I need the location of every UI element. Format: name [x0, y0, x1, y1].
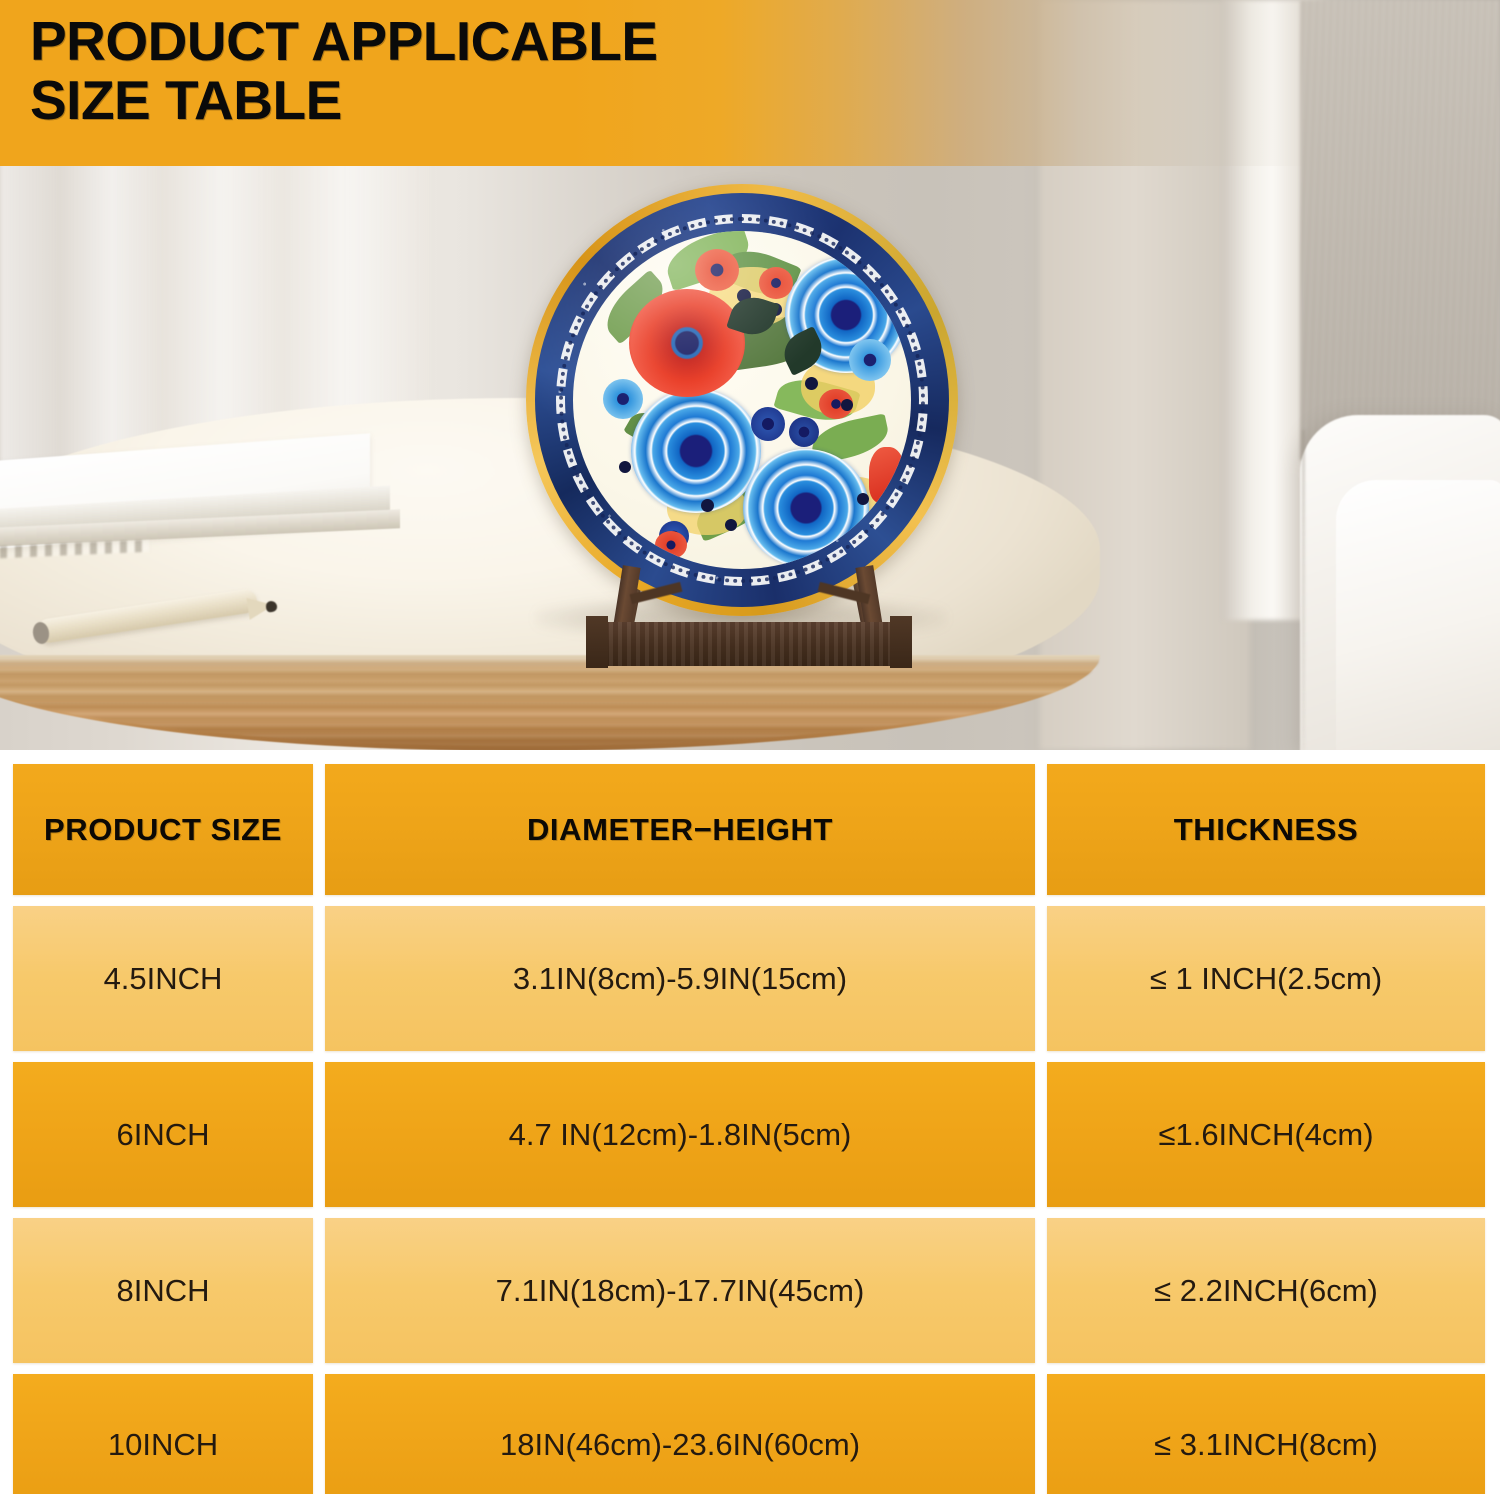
header-thickness: THICKNESS: [1047, 764, 1485, 895]
cell-product-size: 4.5INCH: [13, 906, 313, 1051]
stand-foot-right: [890, 616, 912, 668]
cell-thickness: ≤1.6INCH(4cm): [1047, 1062, 1485, 1207]
product-size-table-page: PRODUCT APPLICABLE SIZE TABLE PRODUCT SI…: [0, 0, 1500, 1494]
header-product-size: PRODUCT SIZE: [13, 764, 313, 895]
navy-dot-5: [701, 499, 714, 512]
cell-diameter-height: 3.1IN(8cm)-5.9IN(15cm): [325, 906, 1035, 1051]
cell-thickness: ≤ 2.2INCH(6cm): [1047, 1218, 1485, 1363]
cell-diameter-height: 7.1IN(18cm)-17.7IN(45cm): [325, 1218, 1035, 1363]
navy-dot-6: [725, 519, 737, 531]
armchair-seam: [1302, 430, 1305, 750]
cell-product-size: 8INCH: [13, 1218, 313, 1363]
table-row: 4.5INCH 3.1IN(8cm)-5.9IN(15cm) ≤ 1 INCH(…: [13, 906, 1485, 1051]
cell-thickness: ≤ 3.1INCH(8cm): [1047, 1374, 1485, 1494]
cell-diameter-height: 18IN(46cm)-23.6IN(60cm): [325, 1374, 1035, 1494]
red-blossom-4: [869, 447, 905, 503]
navy-dot-4: [841, 399, 853, 411]
page-title: PRODUCT APPLICABLE SIZE TABLE: [30, 12, 1500, 130]
blue-chrysanthemum-3: [743, 449, 869, 567]
stand-foot-left: [586, 616, 608, 668]
blue-blossom-1: [849, 339, 891, 381]
armchair-cushion: [1336, 480, 1500, 750]
header-diameter-height: DIAMETER−HEIGHT: [325, 764, 1035, 895]
decorative-plate: [526, 184, 958, 616]
table-header-row: PRODUCT SIZE DIAMETER−HEIGHT THICKNESS: [13, 764, 1485, 895]
cell-diameter-height: 4.7 IN(12cm)-1.8IN(5cm): [325, 1062, 1035, 1207]
red-blossom-5: [655, 531, 687, 559]
table-row: 10INCH 18IN(46cm)-23.6IN(60cm) ≤ 3.1INCH…: [13, 1374, 1485, 1494]
blue-blossom-3: [751, 407, 785, 441]
navy-dot-8: [619, 461, 631, 473]
table-row: 8INCH 7.1IN(18cm)-17.7IN(45cm) ≤ 2.2INCH…: [13, 1218, 1485, 1363]
stand-base-rail: [600, 622, 896, 666]
title-banner: PRODUCT APPLICABLE SIZE TABLE: [0, 0, 1500, 166]
table-row: 6INCH 4.7 IN(12cm)-1.8IN(5cm) ≤1.6INCH(4…: [13, 1062, 1485, 1207]
blue-blossom-4: [789, 417, 819, 447]
cell-product-size: 6INCH: [13, 1062, 313, 1207]
size-table: PRODUCT SIZE DIAMETER−HEIGHT THICKNESS 4…: [13, 764, 1485, 1494]
navy-dot-7: [857, 493, 869, 505]
cell-product-size: 10INCH: [13, 1374, 313, 1494]
plate-floral-well: [573, 231, 911, 569]
cell-thickness: ≤ 1 INCH(2.5cm): [1047, 906, 1485, 1051]
